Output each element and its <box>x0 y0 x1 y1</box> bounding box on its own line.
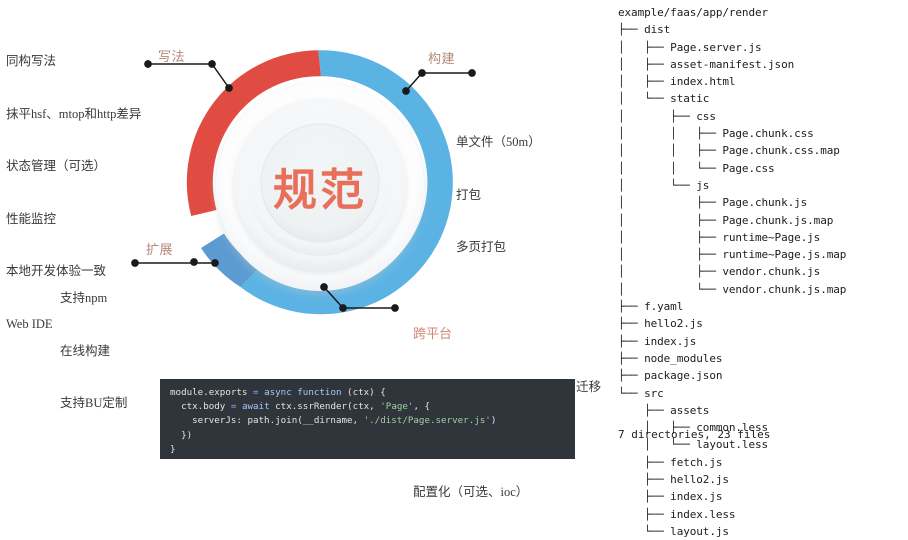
tree-line: └── layout.js <box>618 523 846 540</box>
code-token: ctx.body <box>170 401 231 412</box>
code-token: } <box>170 444 176 455</box>
code-line: ctx.body = await ctx.ssrRender(ctx, 'Pag… <box>170 400 575 414</box>
code-token: = <box>231 401 242 412</box>
tree-line: │ │ └── Page.css <box>618 160 846 177</box>
callout-line: 支持npm <box>60 290 127 308</box>
donut-svg <box>178 40 462 332</box>
callout-line: 配置化（可选、ioc） <box>413 484 601 502</box>
tree-summary: 7 directories, 23 files <box>618 428 770 441</box>
tree-line: │ │ ├── Page.chunk.css.map <box>618 142 846 159</box>
code-token: module.exports <box>170 387 253 398</box>
tree-line: ├── fetch.js <box>618 454 846 471</box>
tree-line: │ ├── asset-manifest.json <box>618 56 846 73</box>
code-line: }) <box>170 429 575 443</box>
tree-line: │ │ ├── Page.chunk.css <box>618 125 846 142</box>
code-line: } <box>170 443 575 457</box>
code-token: }) <box>170 430 192 441</box>
code-line: module.exports = async function (ctx) { <box>170 386 575 400</box>
callout-line: 抹平hsf、mtop和http差异 <box>6 106 141 124</box>
callout-line: 状态管理（可选） <box>6 158 141 176</box>
callout-title-xiefa: 写法 <box>158 46 185 65</box>
code-token: , { <box>413 401 430 412</box>
tree-line: └── src <box>618 385 846 402</box>
callout-text-kuozhan: 支持npm 在线构建 支持BU定制 <box>60 255 127 448</box>
callout-line: 支持BU定制 <box>60 395 127 413</box>
code-token: 'Page' <box>380 401 413 412</box>
tree-line: ├── index.less <box>618 506 846 523</box>
code-snippet: module.exports = async function (ctx) { … <box>160 379 575 459</box>
donut-chart: 规范 <box>178 40 462 332</box>
tree-line: │ ├── Page.chunk.js.map <box>618 212 846 229</box>
code-line: serverJs: path.join(__dirname, './dist/P… <box>170 414 575 428</box>
code-token: async function <box>264 387 347 398</box>
callout-text-goujian: 单文件（50m） 打包 多页打包 <box>456 99 541 292</box>
callout-title-kuozhan: 扩展 <box>146 239 173 258</box>
tree-line: example/faas/app/render <box>618 4 846 21</box>
tree-line: │ ├── runtime~Page.js.map <box>618 246 846 263</box>
tree-line: ├── dist <box>618 21 846 38</box>
file-tree: example/faas/app/render├── dist│ ├── Pag… <box>618 4 846 540</box>
diagram-canvas: 规范 <box>0 0 908 467</box>
callout-line: 性能监控 <box>6 211 141 229</box>
tree-line: │ ├── css <box>618 108 846 125</box>
tree-line: │ ├── index.html <box>618 73 846 90</box>
callout-line: 多页打包 <box>456 239 541 257</box>
tree-line: ├── package.json <box>618 367 846 384</box>
callout-line: 在线构建 <box>60 343 127 361</box>
code-token: = <box>253 387 264 398</box>
tree-line: │ └── vendor.chunk.js.map <box>618 281 846 298</box>
tree-line: │ ├── Page.server.js <box>618 39 846 56</box>
code-token: serverJs: path.join(__dirname, <box>170 415 364 426</box>
tree-line: ├── f.yaml <box>618 298 846 315</box>
tree-line: ├── index.js <box>618 488 846 505</box>
code-token: ctx.ssrRender(ctx, <box>275 401 380 412</box>
code-token: (ctx) { <box>347 387 386 398</box>
code-token: './dist/Page.server.js' <box>364 415 491 426</box>
tree-line: │ └── js <box>618 177 846 194</box>
tree-line: ├── hello2.js <box>618 315 846 332</box>
tree-line: ├── index.js <box>618 333 846 350</box>
tree-line: ├── assets <box>618 402 846 419</box>
tree-line: │ └── static <box>618 90 846 107</box>
callout-line: 打包 <box>456 187 541 205</box>
callout-title-kuapingtai: 跨平台 <box>413 325 601 343</box>
tree-line: ├── node_modules <box>618 350 846 367</box>
tree-line: │ ├── runtime~Page.js <box>618 229 846 246</box>
tree-line: │ ├── vendor.chunk.js <box>618 263 846 280</box>
callout-line: 单文件（50m） <box>456 134 541 152</box>
callout-title-goujian: 构建 <box>428 48 455 67</box>
tree-line: │ ├── Page.chunk.js <box>618 194 846 211</box>
plate-inner <box>261 124 379 242</box>
callout-line: 同构写法 <box>6 53 141 71</box>
tree-line: ├── hello2.js <box>618 471 846 488</box>
code-token: await <box>242 401 275 412</box>
code-token: ) <box>491 415 497 426</box>
